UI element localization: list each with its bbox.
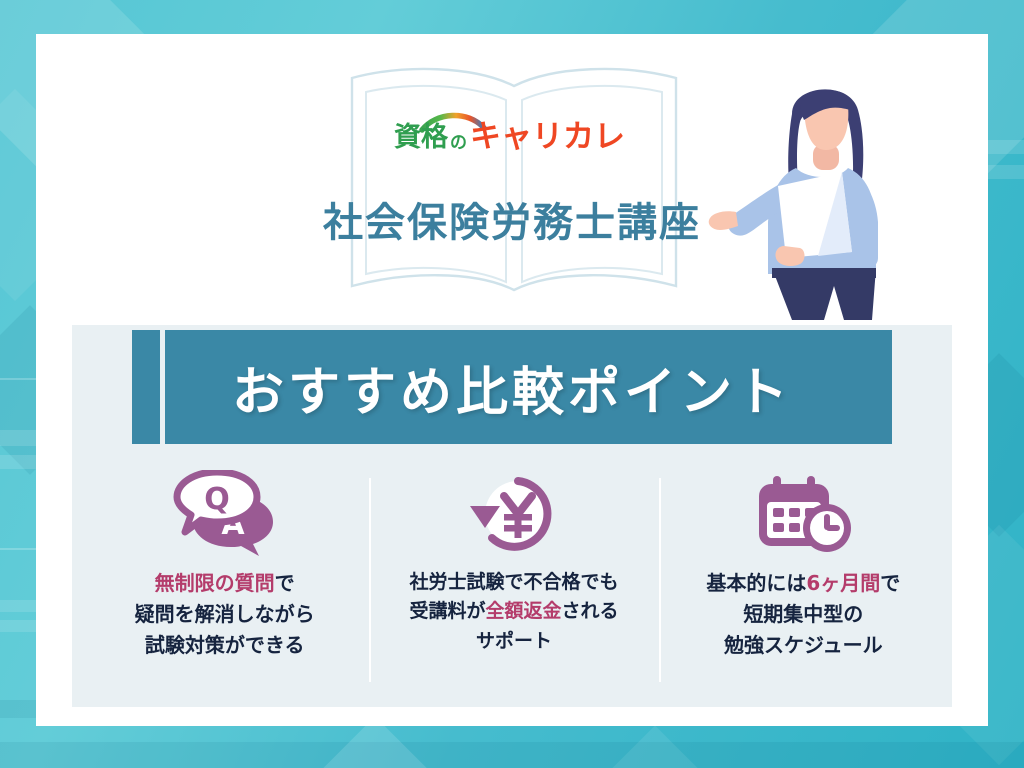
feature-text-refund: 社労士試験で不合格でも 受講料が全額返金される サポート bbox=[403, 568, 624, 656]
feature-text-qa: 無制限の質問で 疑問を解消しながら 試験対策ができる bbox=[129, 568, 321, 661]
feature-plain: サポート bbox=[476, 630, 552, 652]
recommended-points-banner: おすすめ比較ポイント bbox=[132, 330, 892, 444]
banner-title: おすすめ比較ポイント bbox=[132, 330, 892, 444]
feature-line: 勉強スケジュール bbox=[706, 630, 900, 661]
poster-stage: 資格 の キャリカレ 社会保険労務士講座 bbox=[0, 0, 1024, 768]
feature-line: 短期集中型の bbox=[706, 599, 900, 630]
open-book-outline-icon bbox=[344, 60, 684, 300]
bg-band-bottom bbox=[0, 742, 1024, 768]
calendar-clock-icon bbox=[751, 470, 855, 556]
feature-plain: 基本的には bbox=[706, 571, 806, 595]
feature-plain: 短期集中型の bbox=[743, 602, 863, 626]
feature-item-qa: A Q 無制限の質問で 疑問を解消しながら 試験対策ができる bbox=[80, 470, 369, 690]
qa-speech-bubble-icon: A Q bbox=[173, 470, 277, 556]
feature-highlight: 全額返金 bbox=[485, 600, 561, 622]
feature-line: サポート bbox=[409, 627, 618, 656]
feature-item-schedule: 基本的には6ヶ月間で 短期集中型の 勉強スケジュール bbox=[659, 470, 948, 690]
svg-text:の: の bbox=[450, 133, 467, 153]
feature-plain: 受講料が bbox=[409, 600, 485, 622]
feature-plain: 疑問を解消しながら bbox=[135, 602, 315, 626]
feature-line: 基本的には6ヶ月間で bbox=[706, 568, 900, 599]
karicare-logo: 資格 の キャリカレ bbox=[392, 104, 632, 160]
feature-plain: で bbox=[880, 571, 900, 595]
feature-plain: 試験対策ができる bbox=[145, 633, 305, 657]
feature-plain: 社労士試験で不合格でも bbox=[409, 571, 618, 593]
svg-text:Q: Q bbox=[204, 482, 230, 517]
feature-line: 社労士試験で不合格でも bbox=[409, 568, 618, 597]
feature-line: 無制限の質問で bbox=[135, 568, 315, 599]
feature-plain: される bbox=[562, 600, 619, 622]
feature-highlight: 無制限の質問 bbox=[155, 571, 275, 595]
feature-line: 疑問を解消しながら bbox=[135, 599, 315, 630]
feature-line: 受講料が全額返金される bbox=[409, 597, 618, 626]
feature-text-schedule: 基本的には6ヶ月間で 短期集中型の 勉強スケジュール bbox=[700, 568, 906, 661]
feature-item-refund: 社労士試験で不合格でも 受講料が全額返金される サポート bbox=[369, 470, 658, 690]
feature-plain: 勉強スケジュール bbox=[724, 633, 883, 657]
feature-line: 試験対策ができる bbox=[135, 630, 315, 661]
feature-plain: で bbox=[275, 571, 295, 595]
svg-text:キャリカレ: キャリカレ bbox=[470, 119, 625, 155]
yen-refund-circular-arrow-icon bbox=[466, 470, 562, 556]
feature-highlight: 6ヶ月間 bbox=[806, 571, 880, 595]
feature-list: A Q 無制限の質問で 疑問を解消しながら 試験対策ができる bbox=[80, 470, 948, 690]
svg-text:資格: 資格 bbox=[394, 122, 449, 153]
woman-presenting-illustration bbox=[700, 62, 960, 327]
